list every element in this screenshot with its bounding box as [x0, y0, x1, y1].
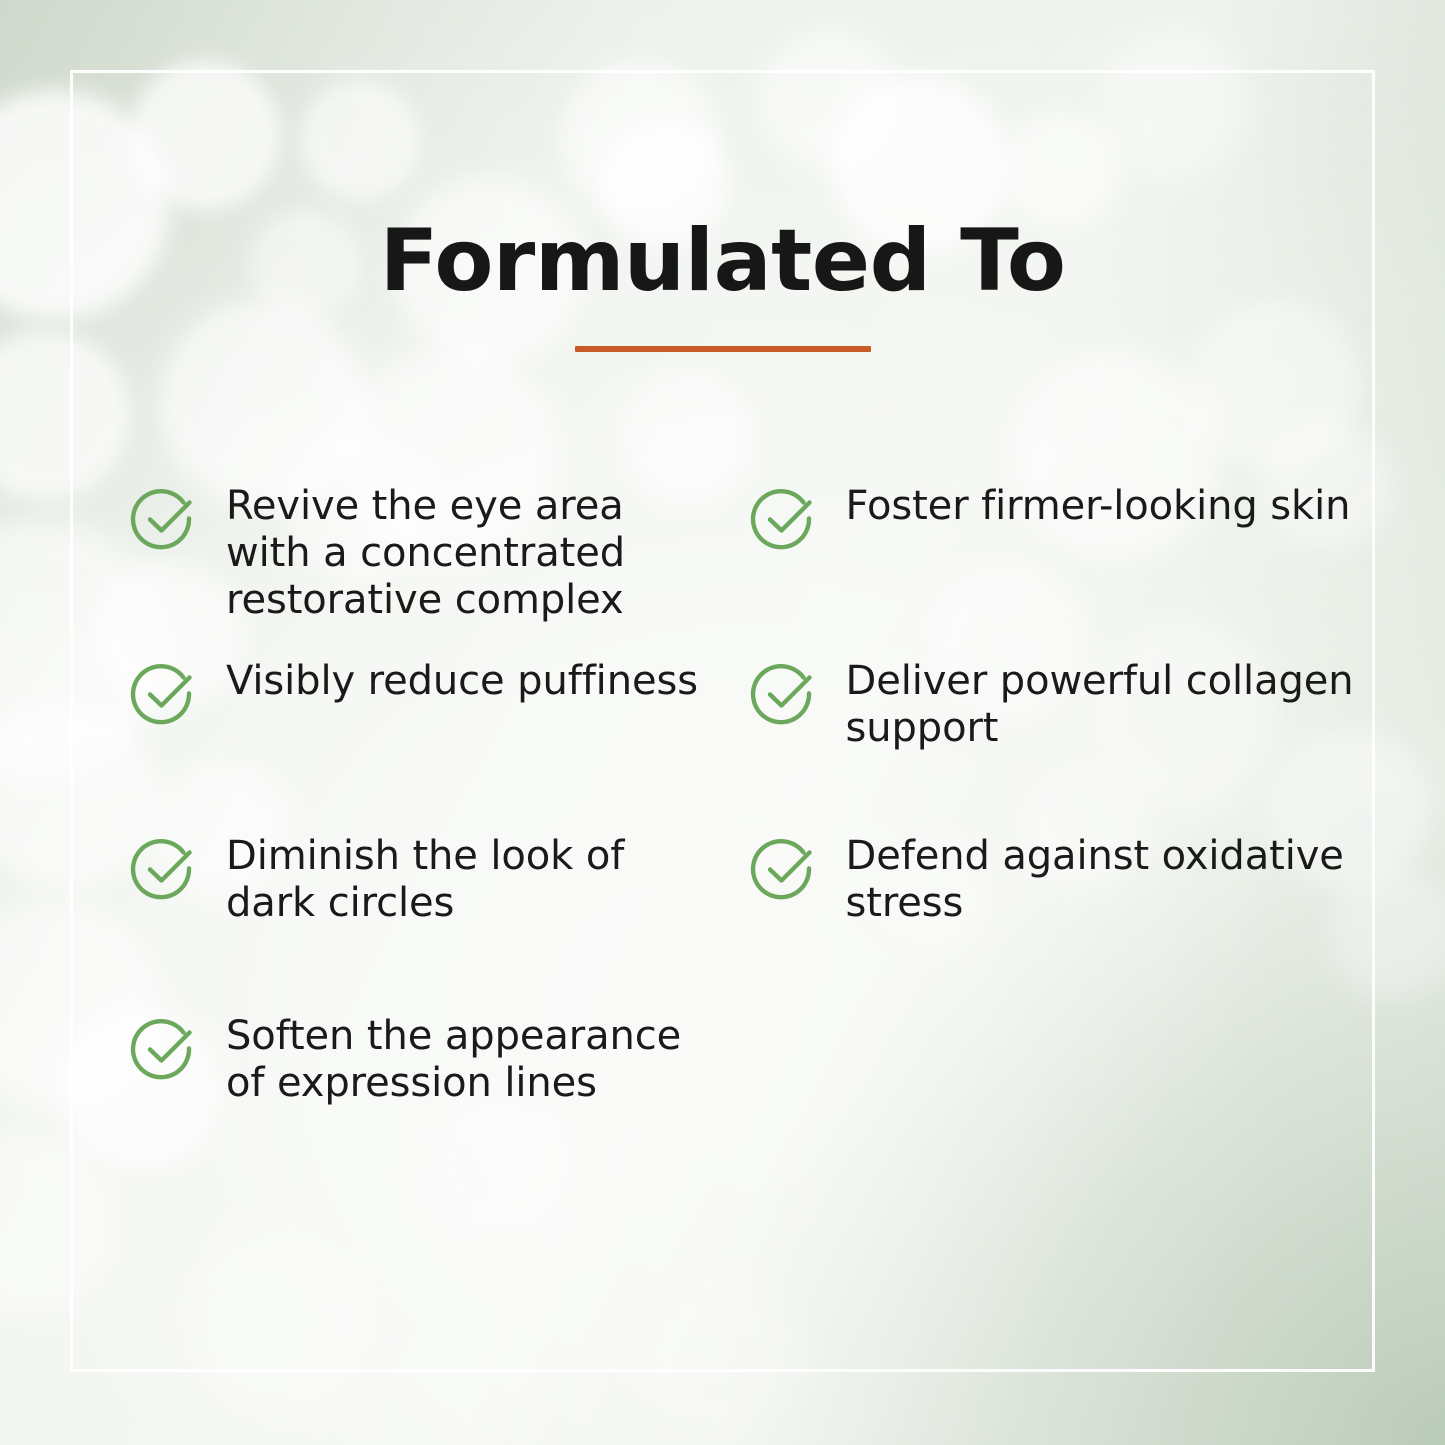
- benefit-text: Revive the eye area with a concentrated …: [226, 478, 703, 623]
- circle-check-icon: [746, 657, 822, 733]
- product-benefits-infographic: Formulated To Revive the eye area with a…: [0, 0, 1445, 1445]
- title-underline-rule: [575, 346, 871, 352]
- benefit-item: Foster firmer-looking skin: [746, 478, 1376, 653]
- benefit-text: Visibly reduce puffiness: [226, 653, 698, 705]
- benefit-text: Foster firmer-looking skin: [846, 478, 1351, 530]
- benefit-text: Defend against oxidative stress: [846, 828, 1366, 927]
- benefits-column-right: Foster firmer-looking skin Deliver power…: [723, 478, 1445, 1183]
- circle-check-icon: [126, 657, 202, 733]
- circle-check-icon: [746, 832, 822, 908]
- circle-check-icon: [126, 832, 202, 908]
- benefit-text: Diminish the look of dark circles: [226, 828, 703, 927]
- benefit-item: Visibly reduce puffiness: [126, 653, 703, 828]
- benefits-columns: Revive the eye area with a concentrated …: [0, 478, 1445, 1183]
- benefit-item: Defend against oxidative stress: [746, 828, 1376, 1008]
- heading-block: Formulated To: [0, 216, 1445, 352]
- benefit-item: Revive the eye area with a concentrated …: [126, 478, 703, 653]
- benefits-column-left: Revive the eye area with a concentrated …: [0, 478, 723, 1183]
- circle-check-icon: [126, 482, 202, 558]
- benefit-text: Deliver powerful collagen support: [846, 653, 1366, 752]
- circle-check-icon: [126, 1012, 202, 1088]
- benefit-item: Deliver powerful collagen support: [746, 653, 1376, 828]
- page-title: Formulated To: [0, 216, 1445, 306]
- circle-check-icon: [746, 482, 822, 558]
- benefit-item: Diminish the look of dark circles: [126, 828, 703, 1008]
- benefit-text: Soften the appearance of expression line…: [226, 1008, 703, 1107]
- benefit-item: Soften the appearance of expression line…: [126, 1008, 703, 1183]
